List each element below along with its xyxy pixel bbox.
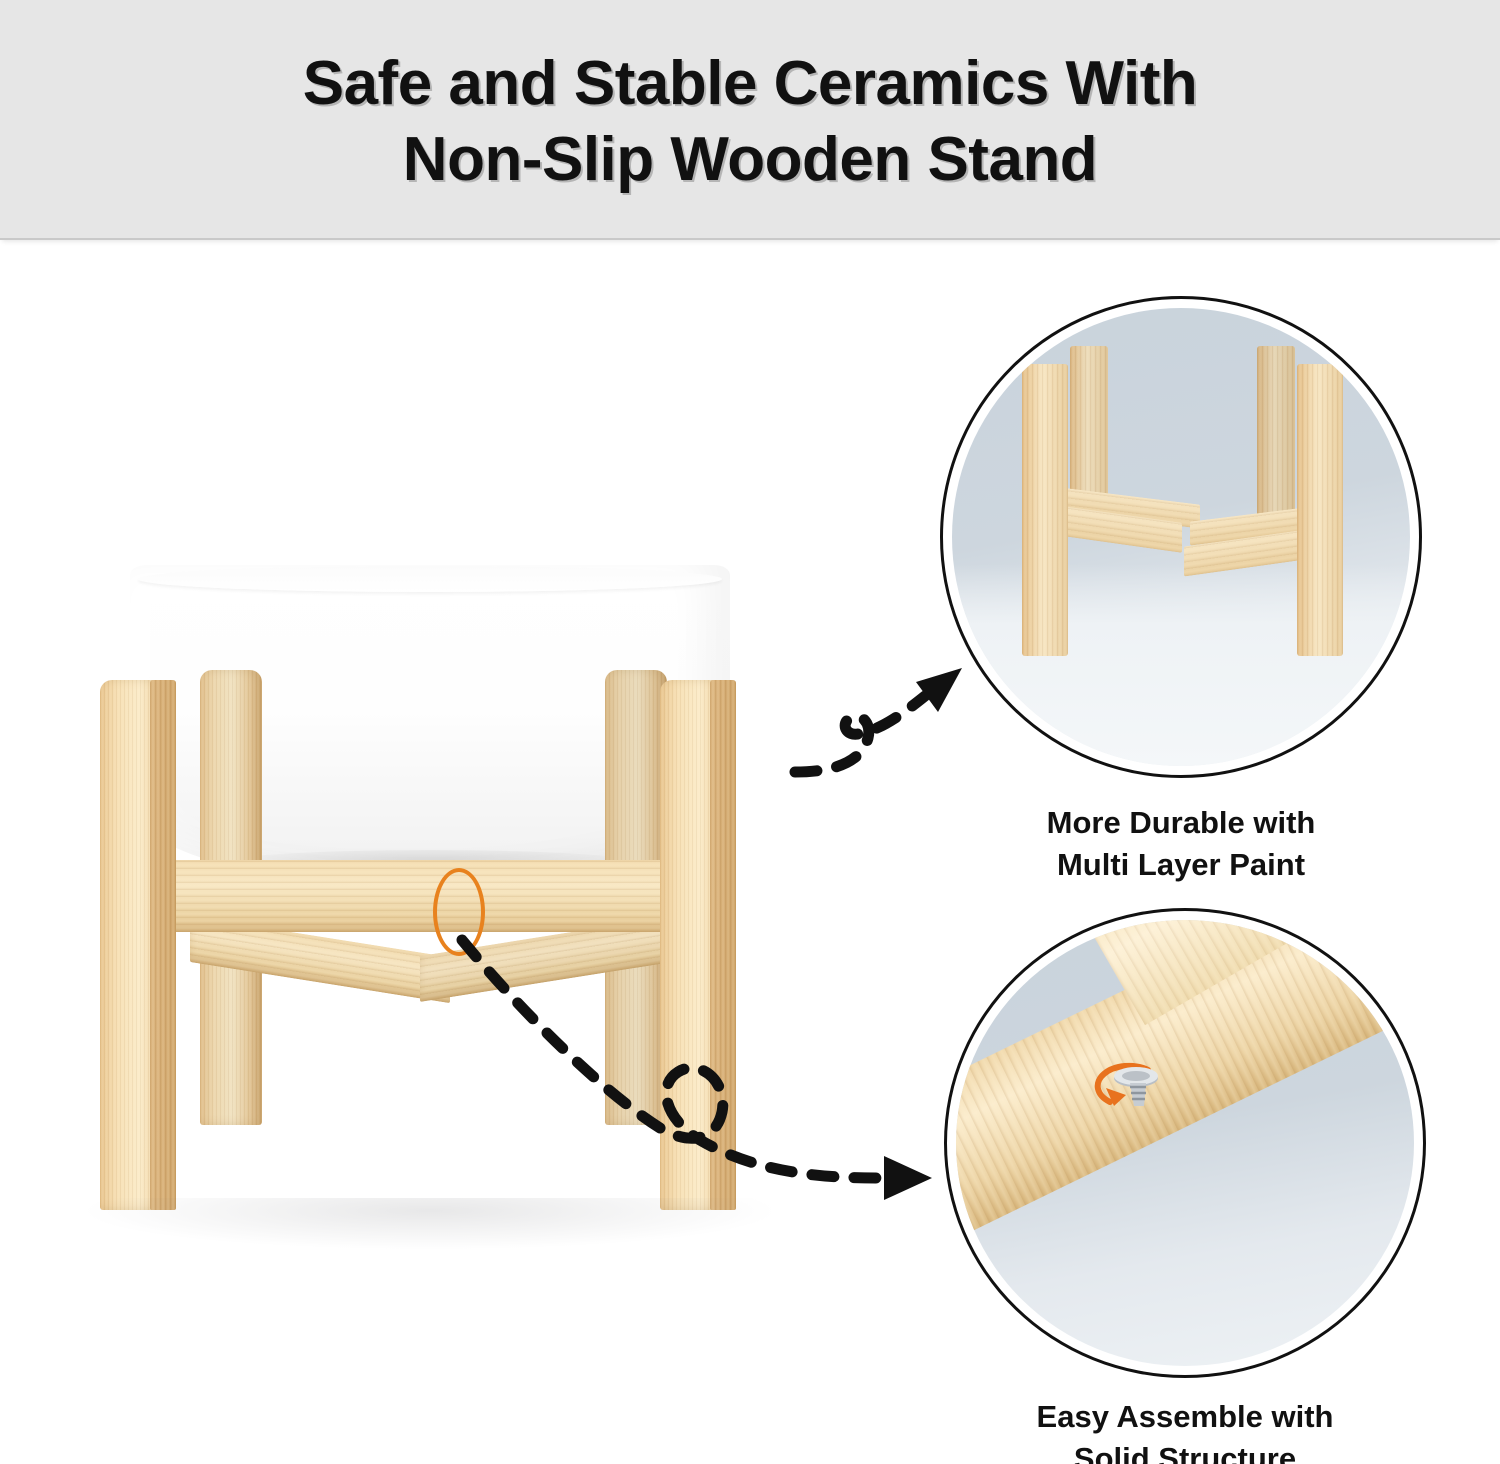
callout-1-caption: More Durable with Multi Layer Paint [940,802,1422,886]
product-floor-shadow [80,1198,780,1250]
callout-circle-screw-detail [944,908,1426,1378]
callout-2-caption: Easy Assemble with Solid Structure [944,1396,1426,1464]
stand-rail-front [148,860,708,932]
page-title: Safe and Stable Ceramics With Non-Slip W… [0,46,1500,198]
c1-leg-front-left [1022,364,1068,656]
post-side-face [710,680,736,1210]
callout-circle-stand-detail [940,296,1422,778]
hero-product-image [60,520,850,1260]
bowl-rim [138,566,722,592]
post-side-face [150,680,176,1210]
callout-2-photo [956,920,1414,1366]
joint-highlight-ellipse-icon [433,868,485,956]
c1-leg-front-right [1297,364,1343,656]
c1-leg-back-right [1257,346,1295,536]
product-infographic: Safe and Stable Ceramics With Non-Slip W… [0,0,1500,1464]
callout-1-photo [952,308,1410,766]
stand-post-front-left [100,680,176,1210]
stand-post-front-right [660,680,736,1210]
screw-icon [1080,1040,1176,1136]
header-band: Safe and Stable Ceramics With Non-Slip W… [0,0,1500,240]
